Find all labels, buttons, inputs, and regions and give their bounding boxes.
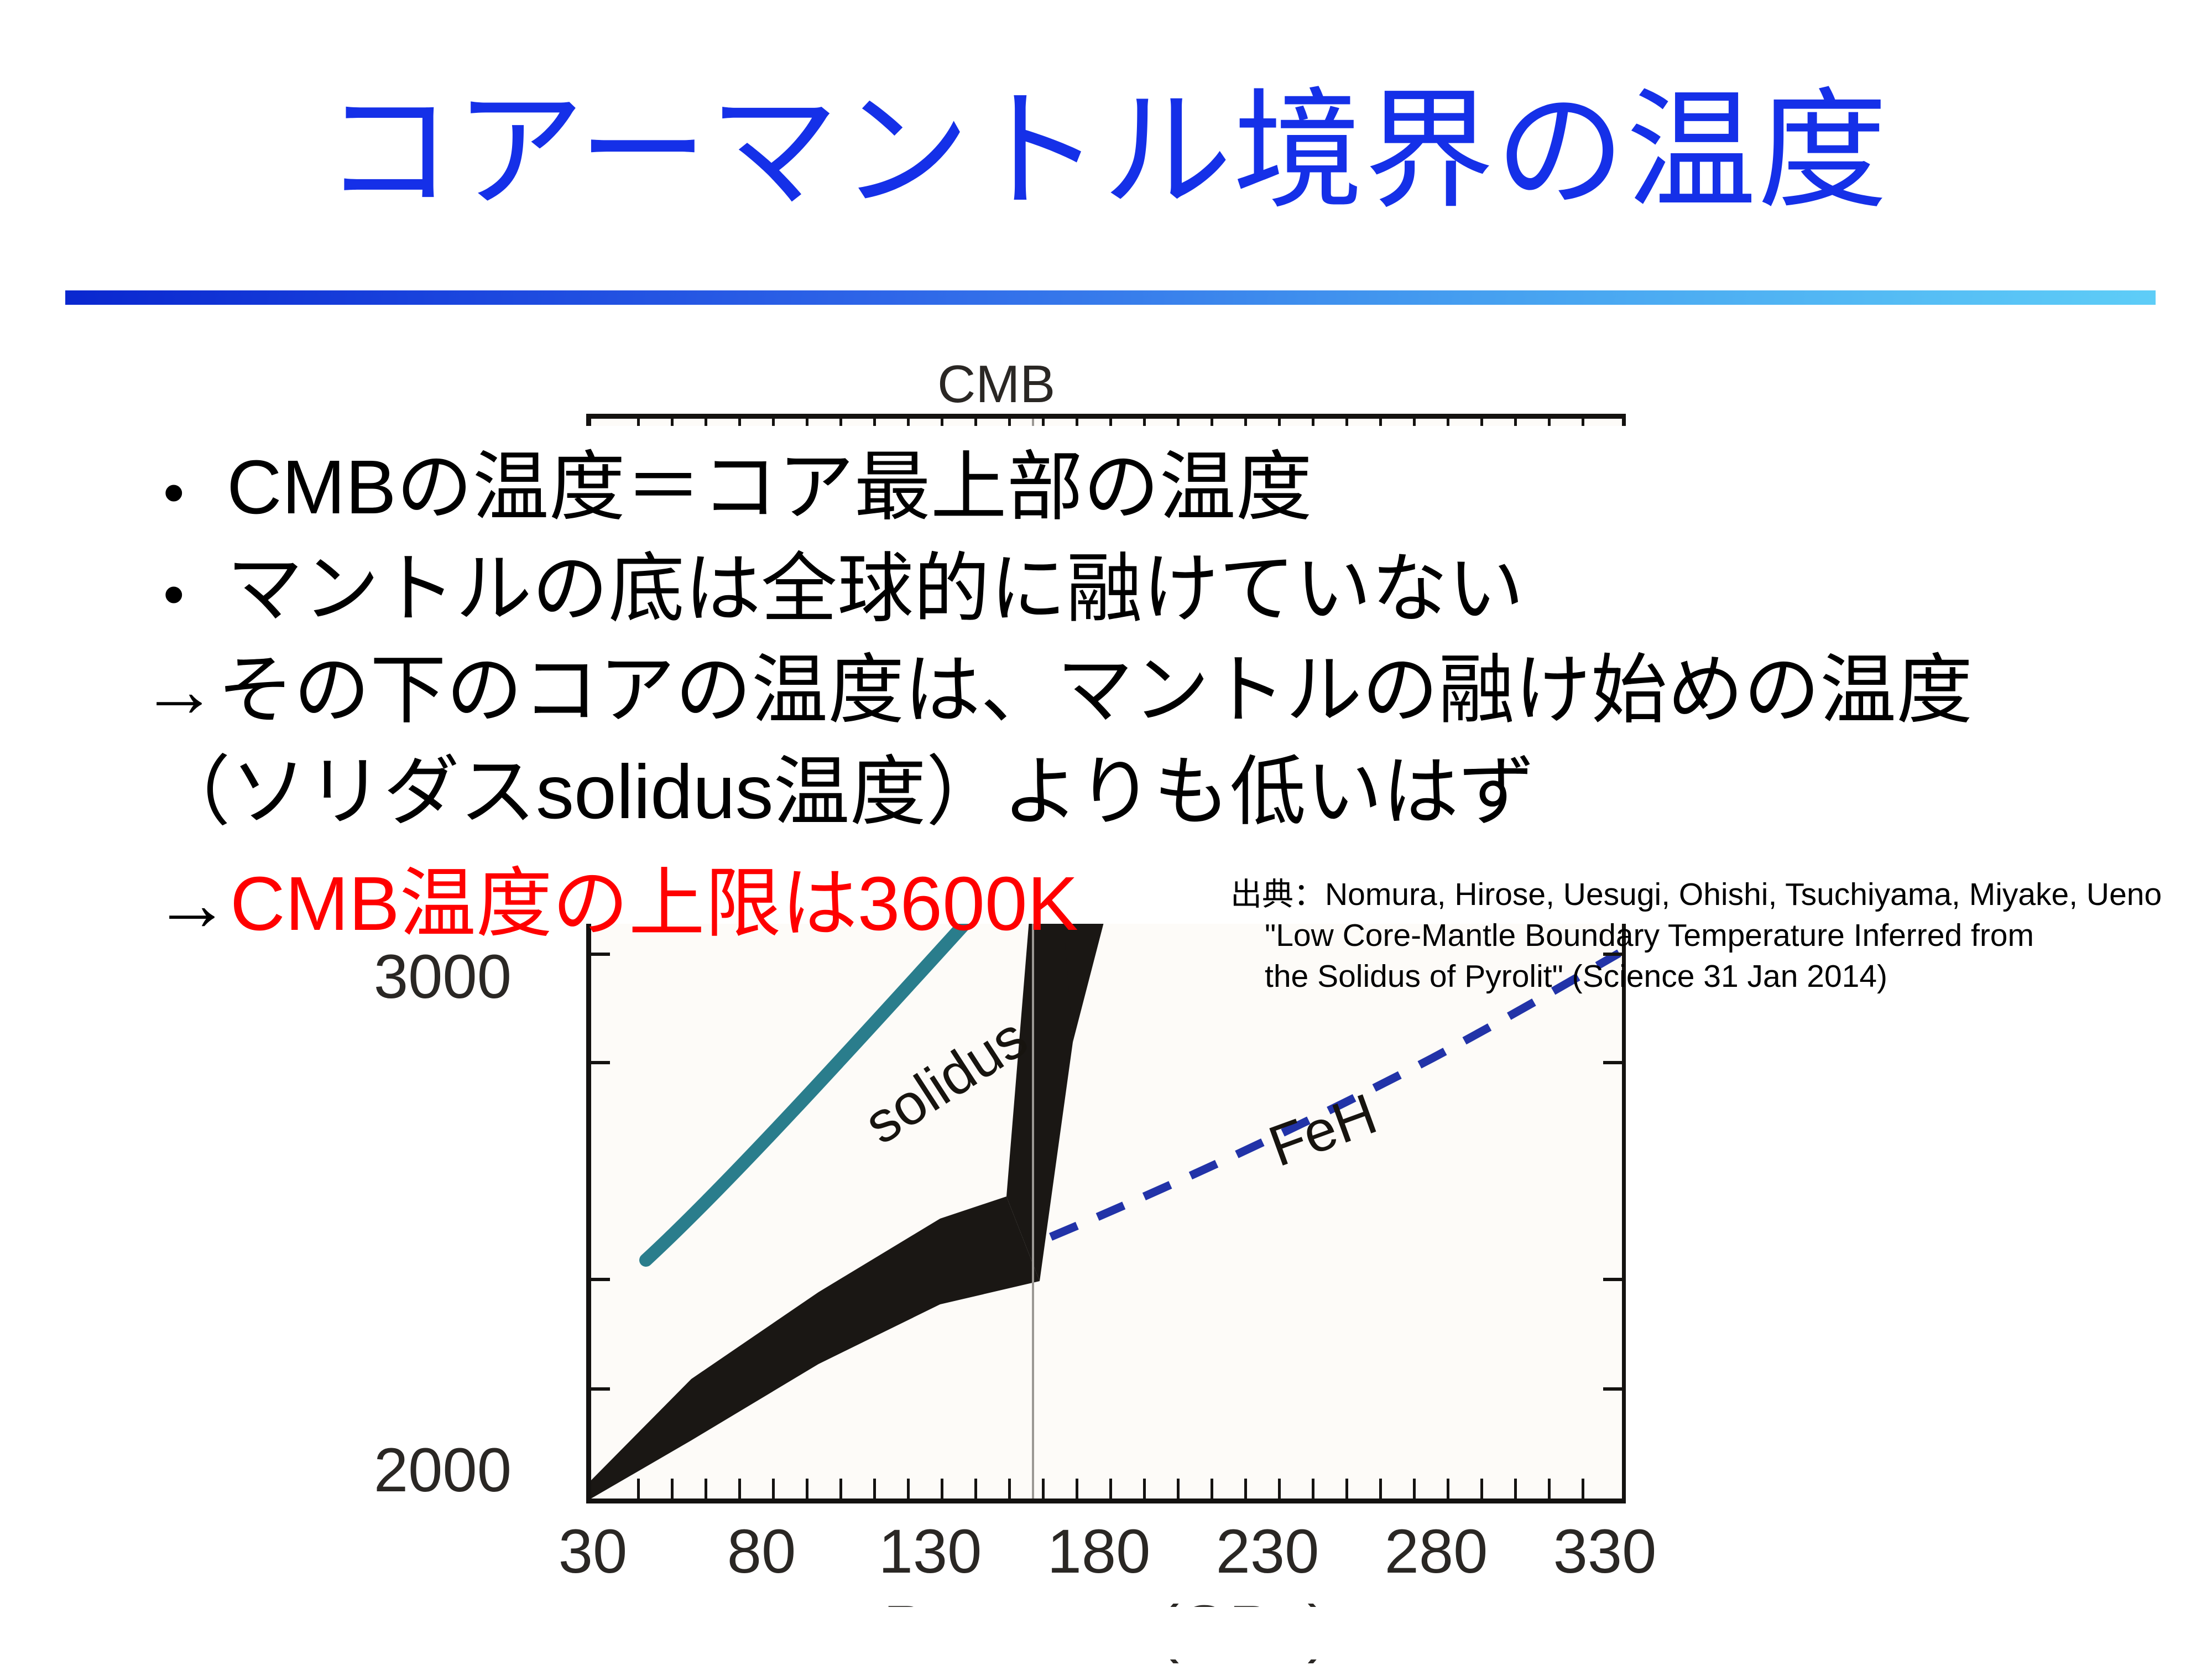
ytick-label-2000: 2000 xyxy=(329,1434,512,1506)
xtick-label-130: 130 xyxy=(864,1516,997,1587)
tick-bottom xyxy=(1008,1479,1011,1498)
citation-line-2: "Low Core-Mantle Boundary Temperature In… xyxy=(1230,915,2204,956)
tick-bottom xyxy=(839,1479,842,1498)
body-line: （ソリダスsolidus温度）よりも低いはず xyxy=(141,742,1911,844)
highlight-line: →CMB温度の上限は3600K xyxy=(154,858,1078,950)
citation-line-3: the Solidus of Pyrolit" (Science 31 Jan … xyxy=(1230,956,2204,997)
tick-right xyxy=(1603,1278,1622,1281)
tick-bottom xyxy=(974,1479,977,1498)
ytick-label-3000: 3000 xyxy=(329,941,512,1012)
bullet-item: • CMBの温度＝コア最上部の温度 xyxy=(141,437,1911,539)
tick-bottom xyxy=(1312,1479,1314,1498)
tick-right xyxy=(1603,1061,1622,1064)
page-title: コアーマントル境界の温度 xyxy=(0,86,2212,216)
tick-left xyxy=(591,953,610,956)
xtick-label-330: 330 xyxy=(1538,1516,1671,1587)
body-text-block: • CMBの温度＝コア最上部の温度 • マントルの底は全球的に融けていない →そ… xyxy=(141,437,1911,843)
tick-bottom xyxy=(1345,1479,1348,1498)
citation-line-1: 出典：Nomura, Hirose, Uesugi, Ohishi, Tsuch… xyxy=(1230,874,2204,915)
tick-left xyxy=(591,1387,610,1391)
tick-bottom xyxy=(873,1479,876,1498)
tick-bottom xyxy=(1076,1479,1078,1498)
tick-bottom xyxy=(1143,1479,1146,1498)
tick-bottom xyxy=(705,1479,707,1498)
bullet-item: • マントルの底は全球的に融けていない xyxy=(141,539,1911,641)
citation-block: 出典：Nomura, Hirose, Uesugi, Ohishi, Tsuch… xyxy=(1230,874,2204,997)
tick-bottom xyxy=(772,1479,775,1498)
xtick-label-180: 180 xyxy=(1032,1516,1165,1587)
tick-bottom xyxy=(1548,1479,1551,1498)
tick-right xyxy=(1603,1387,1622,1391)
tick-left xyxy=(591,1278,610,1281)
tick-left xyxy=(591,1061,610,1064)
bullet-label: CMBの温度＝コア最上部の温度 xyxy=(227,437,1312,539)
highlight-text: CMB温度の上限は3600K xyxy=(230,861,1078,946)
tick-bottom xyxy=(1447,1479,1449,1498)
cmb-annotation-label: CMB xyxy=(937,354,1055,415)
tick-bottom xyxy=(1514,1479,1517,1498)
tick-bottom xyxy=(671,1479,674,1498)
tick-bottom xyxy=(806,1479,808,1498)
tick-bottom xyxy=(1582,1479,1584,1498)
tick-bottom xyxy=(1109,1479,1112,1498)
xtick-label-230: 230 xyxy=(1201,1516,1334,1587)
xtick-label-80: 80 xyxy=(695,1516,828,1587)
bullet-dot-icon: • xyxy=(141,452,227,533)
figure-mask-bottom xyxy=(0,1607,2212,1659)
tick-bottom xyxy=(1480,1479,1483,1498)
tick-bottom xyxy=(1211,1479,1213,1498)
tick-bottom xyxy=(1042,1479,1045,1498)
xtick-label-30: 30 xyxy=(526,1516,659,1587)
tick-bottom xyxy=(738,1479,741,1498)
tick-bottom xyxy=(1244,1479,1247,1498)
tick-bottom xyxy=(1177,1479,1180,1498)
body-line: →その下のコアの温度は、マントルの融け始めの温度 xyxy=(141,640,1911,742)
bullet-label: マントルの底は全球的に融けていない xyxy=(227,539,1524,641)
arrow-icon: → xyxy=(154,861,230,946)
tick-bottom xyxy=(1278,1479,1281,1498)
tick-bottom xyxy=(1413,1479,1416,1498)
xtick-label-280: 280 xyxy=(1370,1516,1503,1587)
tick-bottom xyxy=(637,1479,640,1498)
tick-bottom xyxy=(907,1479,910,1498)
tick-bottom xyxy=(941,1479,943,1498)
tick-bottom xyxy=(1379,1479,1382,1498)
bullet-dot-icon: • xyxy=(141,554,227,635)
title-divider xyxy=(65,290,2156,305)
